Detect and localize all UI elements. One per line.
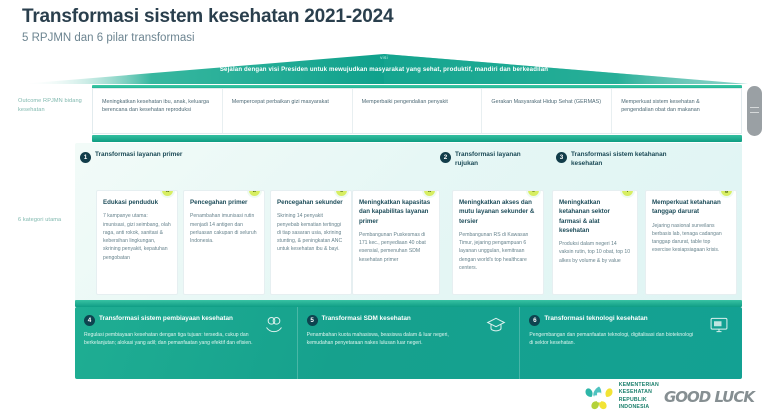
pillar-label: Transformasi SDM kesehatan xyxy=(322,315,411,324)
transformation-card: e Meningkatkan akses dan mutu layanan se… xyxy=(452,190,544,295)
card-title: Edukasi penduduk xyxy=(103,198,171,207)
ministry-logo: KEMENTERIAN KESEHATAN REPUBLIK INDONESIA… xyxy=(584,382,754,412)
bottom-pillars: 4 Transformasi sistem pembiayaan kesehat… xyxy=(75,307,742,379)
transformation-card: g Memperkuat ketahanan tanggap darurat J… xyxy=(645,190,737,295)
monitor-icon xyxy=(708,315,730,335)
pillar-number: 4 xyxy=(84,315,95,326)
pillar-header-4: 4 Transformasi sistem pembiayaan kesehat… xyxy=(84,315,287,326)
pillar-header-1: 1 Transformasi layanan primer xyxy=(80,151,280,163)
good-luck-overlay: GOOD LUCK xyxy=(664,391,754,403)
card-title: Pencegahan sekunder xyxy=(277,198,345,207)
outcome-band: Meningkatkan kesehatan ibu, anak, keluar… xyxy=(92,88,742,134)
scrollbar-grip-line xyxy=(750,107,759,108)
header: Transformasi sistem kesehatan 2021-2024 … xyxy=(22,6,393,44)
card-body: Skrining 14 penyakit penyebab kematian t… xyxy=(277,212,345,253)
card-body: Produksi dalam negeri 14 vaksin rutin, t… xyxy=(559,240,631,265)
outcome-cell: Memperkuat sistem kesehatan & pengendali… xyxy=(612,89,741,133)
logo-line-1: KEMENTERIAN xyxy=(619,382,659,390)
pillar-cell-6: 6 Transformasi teknologi kesehatan Penge… xyxy=(520,307,742,379)
infographic-page: Transformasi sistem kesehatan 2021-2024 … xyxy=(0,0,768,420)
card-badge: d xyxy=(424,190,435,196)
pillar-label: Transformasi sistem pembiayaan kesehatan xyxy=(99,315,233,324)
card-badge: a xyxy=(162,190,173,196)
card-body: Jejaring nasional surveilans berbasis la… xyxy=(652,222,730,255)
outcome-cell: Memperbaiki pengendalian penyakit xyxy=(353,89,483,133)
page-subtitle: 5 RPJMN dan 6 pilar transformasi xyxy=(22,32,393,44)
pillar-number: 2 xyxy=(440,152,451,163)
pillar-header-6: 6 Transformasi teknologi kesehatan xyxy=(529,315,732,326)
card-body: Penambahan imunisasi rutin menjadi 14 an… xyxy=(190,212,258,245)
pillar-number: 3 xyxy=(556,152,567,163)
foot-top-bar xyxy=(75,300,742,307)
pillar-body: Regulasi pembiayaan kesehatan dengan tig… xyxy=(84,331,287,347)
transformation-card: f Meningkatkan ketahanan sektor farmasi … xyxy=(552,190,638,295)
pillar-body: Penambahan kuota mahasiswa, beasiswa dal… xyxy=(307,331,510,347)
card-title: Pencegahan primer xyxy=(190,198,258,207)
card-title: Memperkuat ketahanan tanggap darurat xyxy=(652,198,730,217)
roof-visi-label: visi xyxy=(0,55,768,60)
card-title: Meningkatkan akses dan mutu layanan seku… xyxy=(459,198,537,226)
pillar-body: Pengembangan dan pemanfaatan teknologi, … xyxy=(529,331,732,347)
card-badge: f xyxy=(622,190,633,196)
transformation-card: d Meningkatkan kapasitas dan kapabilitas… xyxy=(352,190,440,295)
pillar-header-5: 5 Transformasi SDM kesehatan xyxy=(307,315,510,326)
coins-hand-icon xyxy=(263,315,285,335)
outcome-cell: Gerakan Masyarakat Hidup Sehat (GERMAS) xyxy=(482,89,612,133)
pillar-label: Transformasi layanan rujukan xyxy=(455,151,545,168)
card-badge: c xyxy=(336,190,347,196)
graduation-cap-icon xyxy=(485,315,507,335)
pillar-number: 1 xyxy=(80,152,91,163)
transformation-card: b Pencegahan primer Penambahan imunisasi… xyxy=(183,190,265,295)
card-title: Meningkatkan ketahanan sektor farmasi & … xyxy=(559,198,631,235)
pillar-label: Transformasi layanan primer xyxy=(95,151,182,160)
pillar-number: 6 xyxy=(529,315,540,326)
pillar-number: 5 xyxy=(307,315,318,326)
scrollbar-grip-line xyxy=(750,112,759,113)
logo-line-2: KESEHATAN xyxy=(619,389,659,397)
band-bottom-bar xyxy=(92,135,742,142)
logo-line-3: REPUBLIK xyxy=(619,397,659,405)
card-body: Pembangunan Puskesmas di 171 kec., penye… xyxy=(359,231,433,264)
card-title: Meningkatkan kapasitas dan kapabilitas l… xyxy=(359,198,433,226)
card-body: 7 kampanye utama: imunisasi, gizi seimba… xyxy=(103,212,171,262)
pillar-header-2: 2 Transformasi layanan rujukan xyxy=(440,151,545,168)
roof-vision-text: Sejalan dengan visi Presiden untuk mewuj… xyxy=(0,66,768,73)
kemenkes-logo-icon xyxy=(584,384,614,410)
card-badge: b xyxy=(249,190,260,196)
pillar-header-3: 3 Transformasi sistem ketahanan kesehata… xyxy=(556,151,696,168)
page-title: Transformasi sistem kesehatan 2021-2024 xyxy=(22,6,393,28)
scrollbar-thumb[interactable] xyxy=(747,86,762,136)
transformation-card: c Pencegahan sekunder Skrining 14 penyak… xyxy=(270,190,352,295)
pillar-cell-5: 5 Transformasi SDM kesehatan Penambahan … xyxy=(298,307,521,379)
logo-text: KEMENTERIAN KESEHATAN REPUBLIK INDONESIA xyxy=(619,382,659,412)
pillar-cell-4: 4 Transformasi sistem pembiayaan kesehat… xyxy=(75,307,298,379)
logo-line-4: INDONESIA xyxy=(619,404,659,412)
card-badge: e xyxy=(528,190,539,196)
card-badge: g xyxy=(721,190,732,196)
outcome-cell: Meningkatkan kesehatan ibu, anak, keluar… xyxy=(93,89,223,133)
pillar-label: Transformasi sistem ketahanan kesehatan xyxy=(571,151,696,168)
side-label-outcome: Outcome RPJMN bidang kesehatan xyxy=(18,97,90,115)
pillar-label: Transformasi teknologi kesehatan xyxy=(544,315,647,324)
card-body: Pembangunan RS di Kawasan Timur, jejarin… xyxy=(459,231,537,272)
outcome-cell: Mempercepat perbaikan gizi masyarakat xyxy=(223,89,353,133)
transformation-card: a Edukasi penduduk 7 kampanye utama: imu… xyxy=(96,190,178,295)
